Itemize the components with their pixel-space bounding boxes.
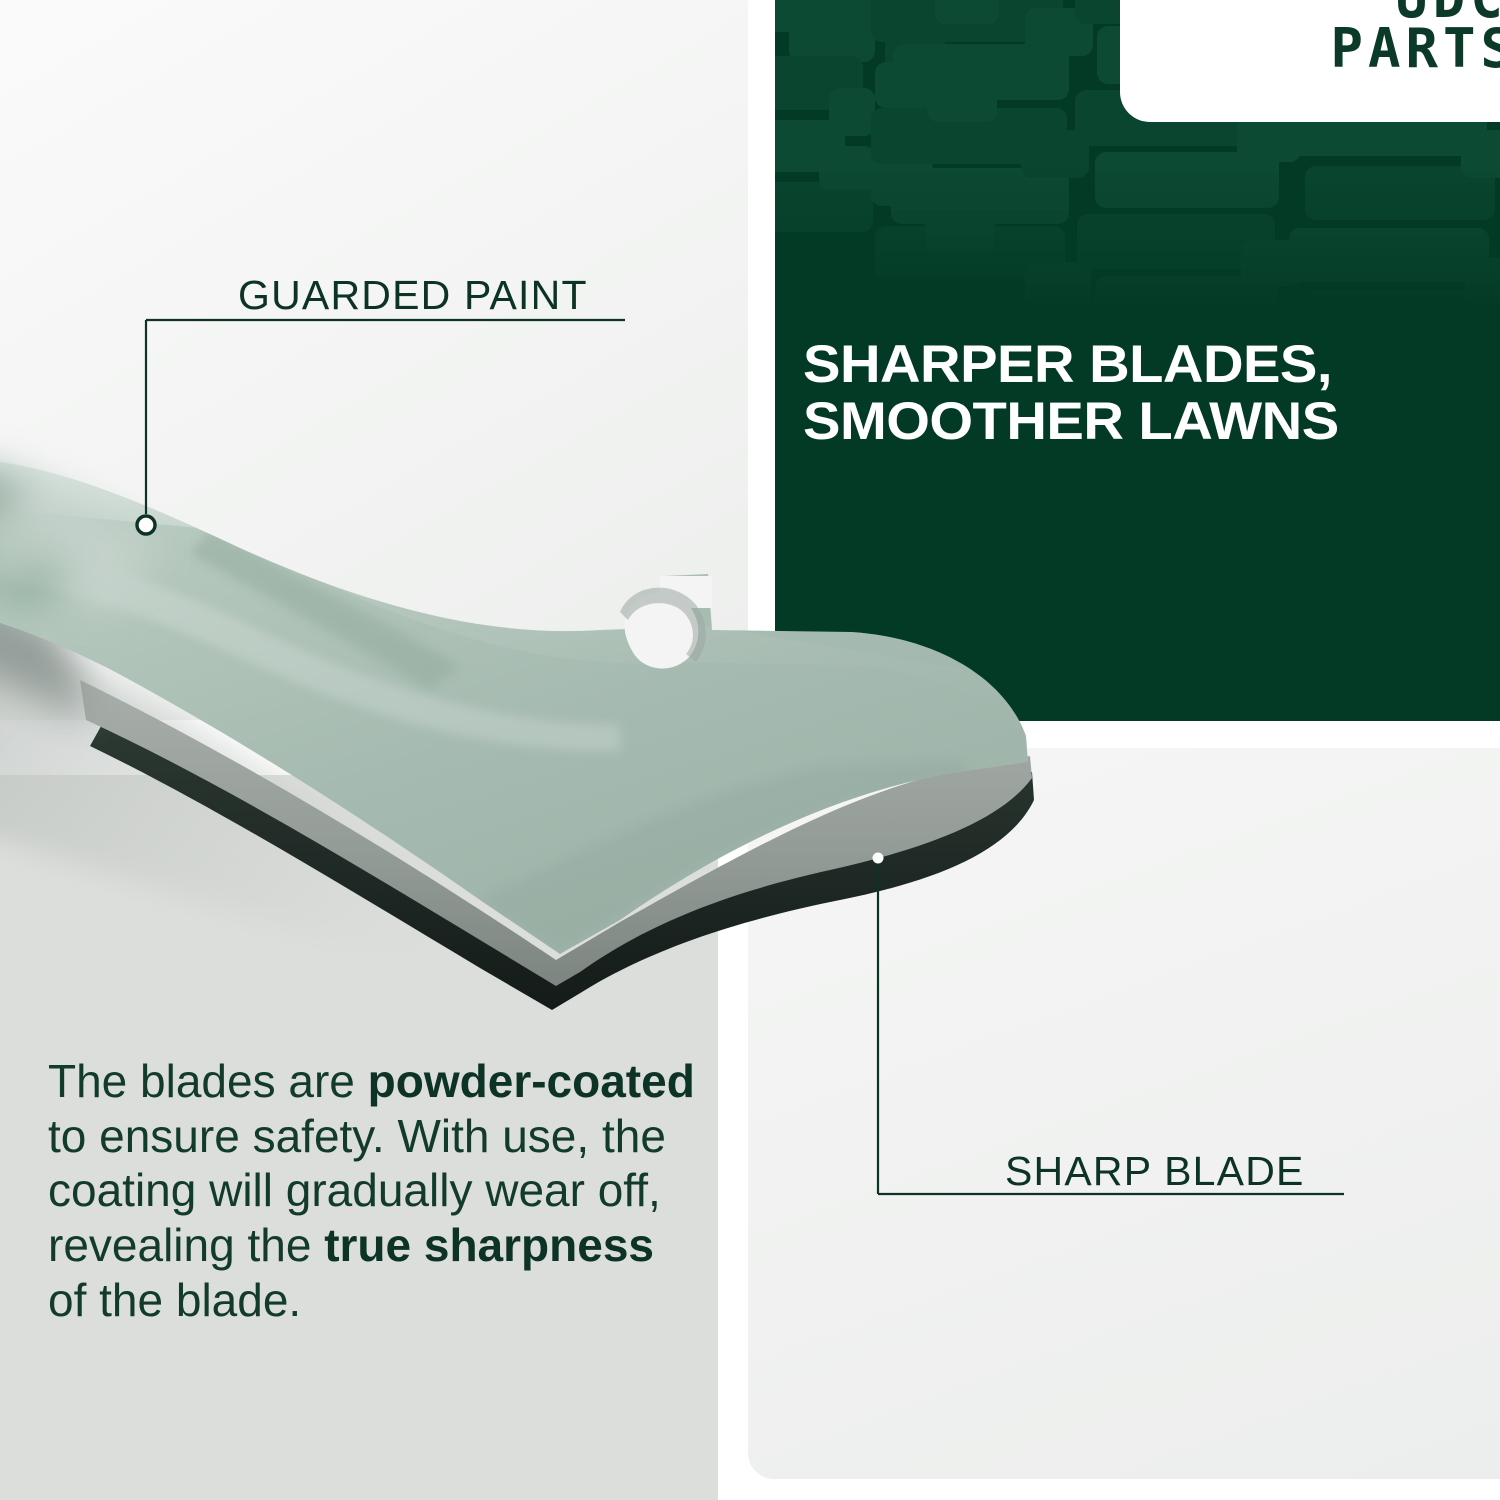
body-text-part-3: of the blade. xyxy=(48,1274,301,1326)
body-text-bold-2: true sharpness xyxy=(324,1219,654,1271)
page-title: SHARPER BLADES, SMOOTHER LAWNS xyxy=(803,336,1500,450)
description-paragraph: The blades are powder-coated to ensure s… xyxy=(48,1054,698,1328)
headline-line-2: SMOOTHER LAWNS xyxy=(803,393,1500,450)
body-text-bold-1: powder-coated xyxy=(368,1055,695,1107)
callout-label-guarded-paint: GUARDED PAINT xyxy=(238,272,588,319)
logo-notch: UDC® PARTS xyxy=(1120,0,1500,122)
brand-logo[interactable]: UDC® PARTS xyxy=(1330,0,1500,73)
card-top-left xyxy=(0,0,748,720)
card-bottom-right xyxy=(748,748,1500,1479)
callout-label-sharp-blade: SHARP BLADE xyxy=(1005,1148,1305,1195)
logo-text-parts: PARTS xyxy=(1330,24,1500,74)
body-text-part-1: The blades are xyxy=(48,1055,368,1107)
infographic-canvas: UDC® PARTS SHARPER BLADES, SMOOTHER LAWN… xyxy=(0,0,1500,1500)
headline-line-1: SHARPER BLADES, xyxy=(803,336,1500,393)
